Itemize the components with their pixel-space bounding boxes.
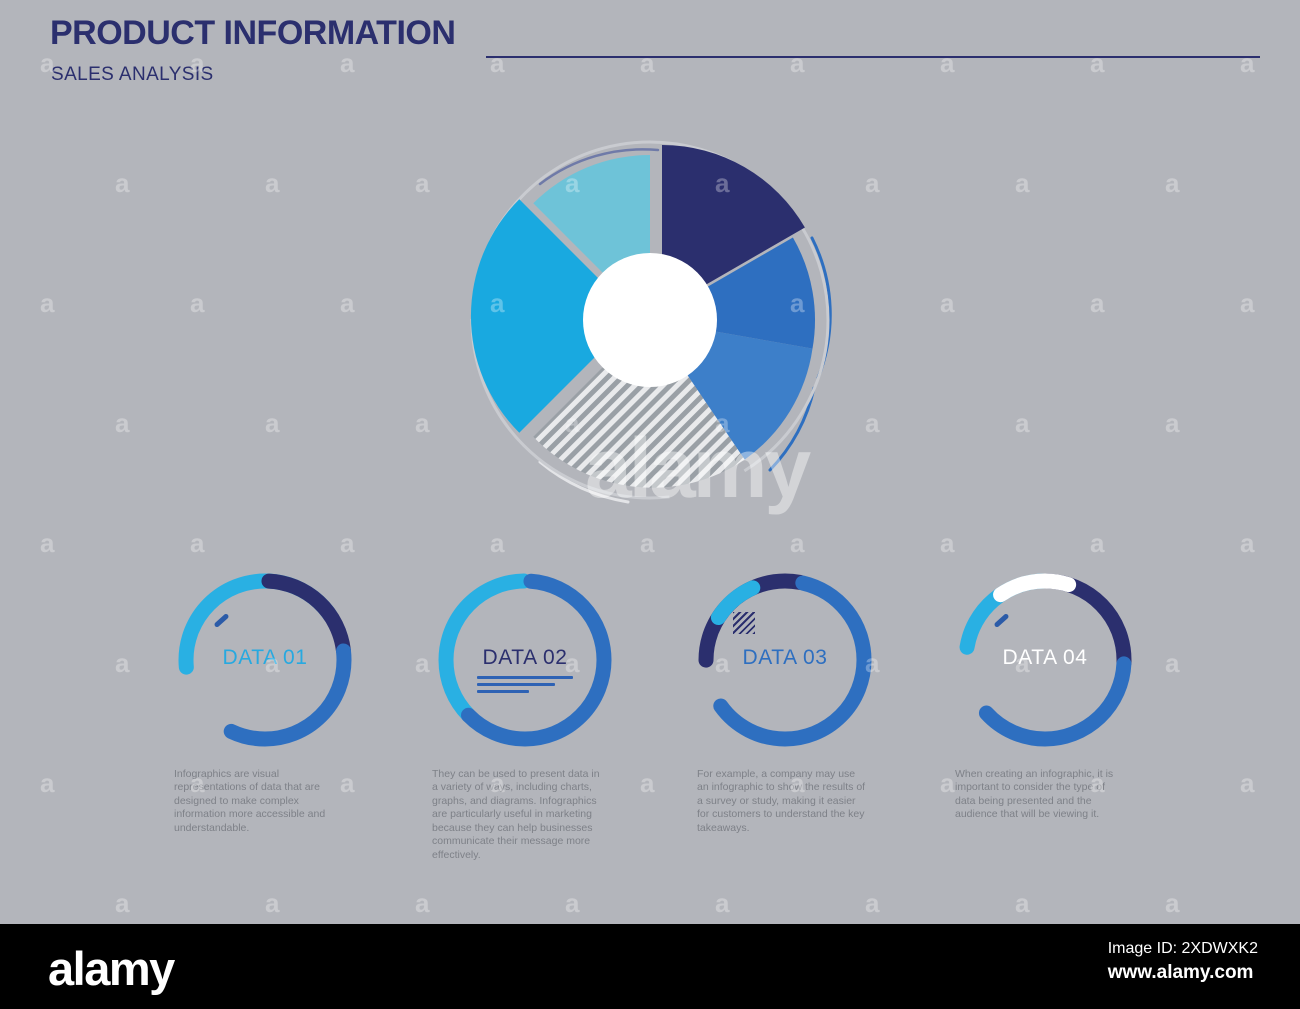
watermark-glyph: a xyxy=(1240,288,1254,319)
watermark-glyph: a xyxy=(40,768,54,799)
infographic-canvas: PRODUCT INFORMATION SALES ANALYSIS xyxy=(0,0,1300,1009)
watermark-glyph: a xyxy=(190,528,204,559)
watermark-info: Image ID: 2XDWXK2 www.alamy.com xyxy=(1108,940,1258,984)
watermark-glyph: a xyxy=(265,168,279,199)
watermark-glyph: a xyxy=(115,888,129,919)
watermark-glyph: a xyxy=(1240,528,1254,559)
page-title: PRODUCT INFORMATION xyxy=(50,14,455,53)
watermark-glyph: a xyxy=(940,768,954,799)
text-line-3 xyxy=(477,690,529,693)
watermark-glyph: a xyxy=(1165,168,1179,199)
watermark-glyph: a xyxy=(415,168,429,199)
pie-chart xyxy=(440,110,860,530)
watermark-glyph: a xyxy=(865,888,879,919)
watermark-glyph: a xyxy=(340,288,354,319)
donut-row: DATA 01 DATA 02 DATA 03 xyxy=(0,560,1300,770)
text-line-2 xyxy=(477,683,555,686)
header: PRODUCT INFORMATION SALES ANALYSIS xyxy=(50,14,1260,84)
donut-03-label: DATA 03 xyxy=(685,646,885,670)
image-id-label: Image ID: 2XDWXK2 xyxy=(1108,940,1258,958)
watermark-glyph: a xyxy=(1090,288,1104,319)
watermark-glyph: a xyxy=(715,888,729,919)
watermark-glyph: a xyxy=(1015,888,1029,919)
header-divider xyxy=(486,56,1260,58)
description-text-4: When creating an infographic, it is impo… xyxy=(955,768,1127,822)
watermark-glyph: a xyxy=(490,528,504,559)
watermark-glyph: a xyxy=(640,768,654,799)
pie-chart-svg xyxy=(440,110,860,530)
watermark-glyph: a xyxy=(565,888,579,919)
watermark-bar: alamy Image ID: 2XDWXK2 www.alamy.com xyxy=(0,924,1300,1009)
watermark-glyph: a xyxy=(865,168,879,199)
donut-chart-data-03[interactable]: DATA 03 xyxy=(685,560,885,760)
page-subtitle: SALES ANALYSIS xyxy=(51,64,214,86)
watermark-glyph: a xyxy=(1165,408,1179,439)
watermark-glyph: a xyxy=(265,888,279,919)
website-url: www.alamy.com xyxy=(1108,962,1258,984)
watermark-glyph: a xyxy=(640,528,654,559)
watermark-glyph: a xyxy=(415,888,429,919)
alamy-logo: alamy xyxy=(48,941,174,996)
donut-chart-data-04[interactable]: DATA 04 xyxy=(945,560,1145,760)
watermark-glyph: a xyxy=(415,408,429,439)
watermark-glyph: a xyxy=(265,408,279,439)
description-text-2: They can be used to present data in a va… xyxy=(432,768,604,862)
donut-chart-data-02[interactable]: DATA 02 xyxy=(425,560,625,760)
donut-chart-data-01[interactable]: DATA 01 xyxy=(165,560,365,760)
text-line-1 xyxy=(477,676,573,679)
watermark-glyph: a xyxy=(940,288,954,319)
watermark-glyph: a xyxy=(190,288,204,319)
watermark-glyph: a xyxy=(865,408,879,439)
description-text-3: For example, a company may use an infogr… xyxy=(697,768,869,835)
watermark-glyph: a xyxy=(1090,528,1104,559)
watermark-glyph: a xyxy=(1165,888,1179,919)
watermark-glyph: a xyxy=(940,528,954,559)
watermark-glyph: a xyxy=(1240,768,1254,799)
watermark-glyph: a xyxy=(40,288,54,319)
text-lines-icon xyxy=(477,676,577,697)
watermark-glyph: a xyxy=(40,528,54,559)
description-text-1: Infographics are visual representations … xyxy=(174,768,346,835)
donut-02-label: DATA 02 xyxy=(425,646,625,670)
donut-04-label: DATA 04 xyxy=(945,646,1145,670)
watermark-glyph: a xyxy=(1015,408,1029,439)
hatched-square-icon xyxy=(733,612,755,634)
watermark-glyph: a xyxy=(340,528,354,559)
watermark-glyph: a xyxy=(1015,168,1029,199)
watermark-glyph: a xyxy=(115,408,129,439)
watermark-glyph: a xyxy=(115,168,129,199)
pie-center-hole xyxy=(583,253,717,387)
watermark-glyph: a xyxy=(790,528,804,559)
donut-01-label: DATA 01 xyxy=(165,646,365,670)
